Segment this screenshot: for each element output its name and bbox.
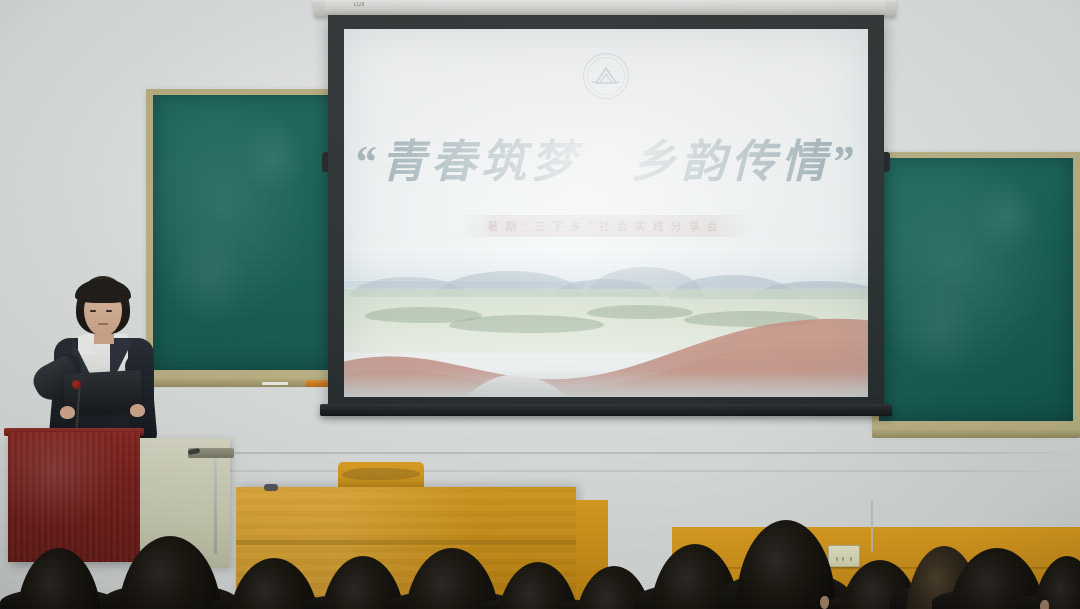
outlet-cable — [871, 500, 873, 552]
presenter-mouth — [98, 323, 108, 325]
wall-socket-box[interactable] — [828, 545, 860, 567]
desk-knob — [264, 484, 278, 491]
classroom-photo-scene: LUX — [0, 0, 1080, 609]
slide-landscape-photo — [344, 245, 868, 397]
audience-ear — [820, 596, 829, 609]
presentation-slide: · · · · · · · · · “青春筑梦 乡韵传情” 暑期“三下乡”社会实… — [344, 29, 868, 397]
university-crest-icon: · · · · · · · · · — [581, 51, 631, 101]
housing-cap-left — [314, 1, 325, 16]
cabinet-cable-pole — [214, 458, 217, 554]
speaker-lectern — [8, 432, 140, 562]
socket-slot-c — [850, 557, 852, 561]
desk-back-panel — [338, 462, 424, 490]
chalkboard-right — [872, 152, 1080, 430]
chalk-tray-right — [872, 429, 1080, 438]
chalkboard-left-surface — [153, 95, 337, 370]
slide-subtitle: 暑期“三下乡”社会实践分享会 — [344, 215, 868, 237]
chalkboard-right-surface — [879, 158, 1073, 421]
presenter-eye-left — [90, 310, 96, 312]
projector-screen-assembly: LUX — [320, 0, 890, 432]
slide-title: “青春筑梦 乡韵传情” — [344, 125, 868, 190]
screen-weight-bar — [320, 404, 892, 416]
desk-front-lip — [236, 540, 576, 545]
presenter-eye-right — [106, 310, 112, 312]
chalk-stick — [262, 382, 288, 385]
svg-text:· · · ·: · · · · — [602, 93, 610, 97]
presenter-hand-left — [60, 406, 75, 419]
projector-screen-frame: · · · · · · · · · “青春筑梦 乡韵传情” 暑期“三下乡”社会实… — [328, 15, 884, 407]
socket-slot-b — [842, 557, 844, 561]
presenter-fringe — [75, 279, 131, 303]
landscape-base-fade — [344, 371, 868, 397]
screen-brand-label: LUX — [354, 2, 365, 8]
microphone-head — [72, 380, 81, 389]
socket-slot-a — [836, 557, 838, 561]
housing-cap-right — [885, 1, 896, 16]
presenter-hand-right — [130, 404, 145, 417]
svg-text:· · · · ·: · · · · · — [601, 56, 611, 60]
audience-ear — [1040, 600, 1049, 609]
